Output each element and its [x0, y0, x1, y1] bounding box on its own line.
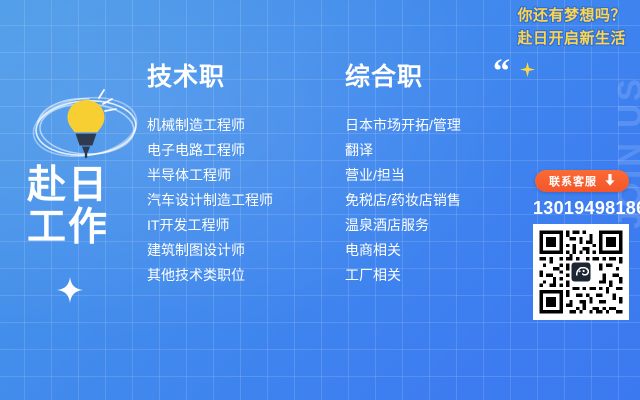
column-heading-general: 综合职	[345, 62, 461, 92]
poster-canvas: JOIN US 你还有梦想吗？ 赴日开启新生活 “	[0, 0, 640, 400]
headline-line-1: 你还有梦想吗？	[517, 6, 626, 26]
list-item: 电子电路工程师	[147, 138, 273, 163]
column-technical: 技术职 机械制造工程师 电子电路工程师 半导体工程师 汽车设计制造工程师 IT开…	[147, 62, 273, 288]
contact-support-label: 联系客服	[549, 173, 597, 189]
headline-line-2: 赴日开启新生活	[517, 29, 626, 49]
list-item: 半导体工程师	[147, 163, 273, 188]
list-item: 温泉酒店服务	[345, 213, 461, 238]
sparkle-icon	[57, 277, 83, 303]
job-list-technical: 机械制造工程师 电子电路工程师 半导体工程师 汽车设计制造工程师 IT开发工程师…	[147, 113, 273, 288]
list-item: IT开发工程师	[147, 213, 273, 238]
sparkle-icon	[520, 62, 535, 77]
list-item: 免税店/药妆店销售	[345, 188, 461, 213]
list-item: 电商相关	[345, 238, 461, 263]
page-title-line-1: 赴日	[27, 165, 109, 207]
list-item: 工厂相关	[345, 263, 461, 288]
phone-number: 13019498186	[533, 198, 633, 219]
job-list-general: 日本市场开拓/管理 翻译 营业/担当 免税店/药妆店销售 温泉酒店服务 电商相关…	[345, 113, 461, 288]
arrow-down-icon	[605, 174, 615, 188]
list-item: 其他技术类职位	[147, 263, 273, 288]
list-item: 汽车设计制造工程师	[147, 188, 273, 213]
contact-support-button[interactable]: 联系客服	[535, 170, 629, 192]
list-item: 机械制造工程师	[147, 113, 273, 138]
column-general: 综合职 日本市场开拓/管理 翻译 营业/担当 免税店/药妆店销售 温泉酒店服务 …	[345, 62, 461, 288]
quote-mark-icon: “	[493, 55, 510, 89]
list-item: 翻译	[345, 138, 461, 163]
headline-block: 你还有梦想吗？ 赴日开启新生活	[517, 6, 626, 49]
qr-code[interactable]	[533, 224, 629, 320]
list-item: 营业/担当	[345, 163, 461, 188]
list-item: 日本市场开拓/管理	[345, 113, 461, 138]
column-heading-technical: 技术职	[147, 62, 273, 92]
page-title-line-2: 工作	[27, 207, 109, 249]
list-item: 建筑制图设计师	[147, 238, 273, 263]
lightbulb-emblem	[26, 78, 146, 178]
page-title: 赴日 工作	[27, 165, 109, 249]
